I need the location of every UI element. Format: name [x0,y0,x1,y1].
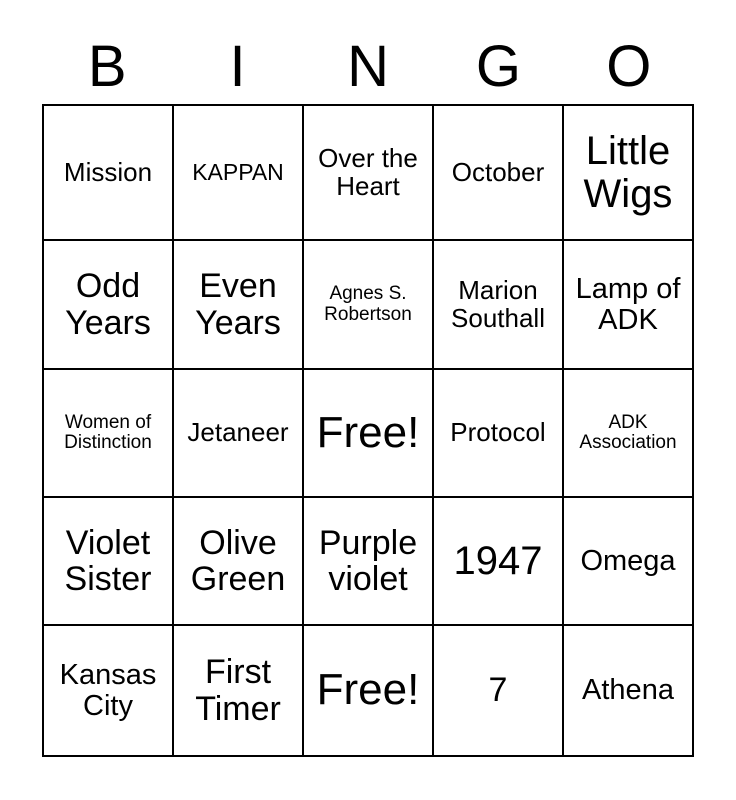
bingo-header-row: B I N G O [42,0,694,104]
bingo-cell-free[interactable]: Free! [304,626,434,757]
bingo-header-letter-o: O [564,38,694,104]
bingo-cell[interactable]: Purple violet [304,498,434,626]
bingo-header-letter-b: B [42,38,172,104]
bingo-cell[interactable]: October [434,106,564,241]
bingo-cell[interactable]: Even Years [174,241,304,370]
bingo-cell[interactable]: Jetaneer [174,370,304,498]
bingo-cell-free[interactable]: Free! [304,370,434,498]
bingo-header-letter-n: N [303,38,433,104]
bingo-cell[interactable]: Violet Sister [44,498,174,626]
bingo-cell[interactable]: Agnes S. Robertson [304,241,434,370]
bingo-grid: Mission KAPPAN Over the Heart October Li… [42,104,694,757]
bingo-row: Women of Distinction Jetaneer Free! Prot… [44,370,694,498]
bingo-cell[interactable]: Athena [564,626,694,757]
bingo-cell[interactable]: First Timer [174,626,304,757]
bingo-cell[interactable]: ADK Association [564,370,694,498]
bingo-row: Mission KAPPAN Over the Heart October Li… [44,106,694,241]
bingo-cell[interactable]: Kansas City [44,626,174,757]
bingo-cell[interactable]: Women of Distinction [44,370,174,498]
bingo-cell[interactable]: Marion Southall [434,241,564,370]
bingo-cell[interactable]: Protocol [434,370,564,498]
bingo-cell[interactable]: Little Wigs [564,106,694,241]
bingo-header-letter-g: G [433,38,563,104]
bingo-card: B I N G O Mission KAPPAN Over the Heart … [42,0,694,757]
bingo-cell[interactable]: KAPPAN [174,106,304,241]
bingo-cell[interactable]: Mission [44,106,174,241]
bingo-cell[interactable]: 7 [434,626,564,757]
bingo-row: Violet Sister Olive Green Purple violet … [44,498,694,626]
bingo-cell[interactable]: Odd Years [44,241,174,370]
bingo-header-letter-i: I [172,38,302,104]
bingo-cell[interactable]: Lamp of ADK [564,241,694,370]
bingo-cell[interactable]: 1947 [434,498,564,626]
bingo-row: Odd Years Even Years Agnes S. Robertson … [44,241,694,370]
bingo-row: Kansas City First Timer Free! 7 Athena [44,626,694,757]
bingo-cell[interactable]: Over the Heart [304,106,434,241]
bingo-cell[interactable]: Omega [564,498,694,626]
bingo-cell[interactable]: Olive Green [174,498,304,626]
